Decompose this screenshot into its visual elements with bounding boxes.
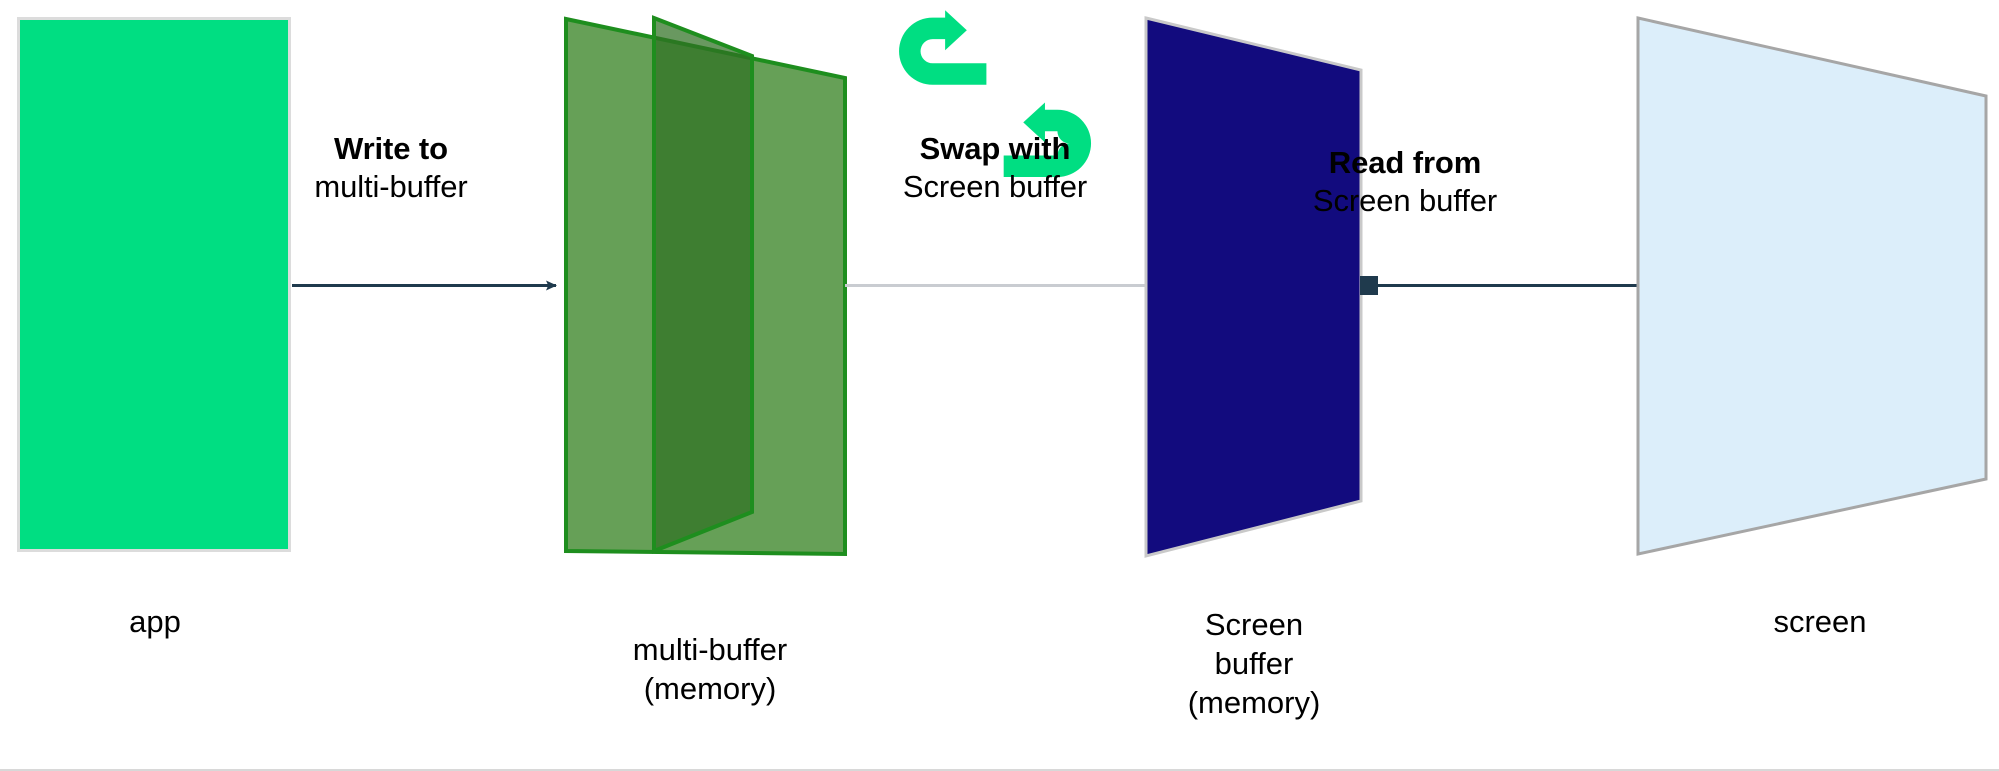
node-label-app: app [35, 602, 275, 641]
edge-read-from-subtitle: Screen buffer [1262, 182, 1548, 220]
edge-label-swap-with: Swap with Screen buffer [852, 130, 1138, 206]
node-screen-shape[interactable] [1638, 18, 1986, 554]
node-multi-buffer-front-shape[interactable] [654, 18, 752, 551]
node-app-shape[interactable] [19, 19, 290, 551]
edge-label-read-from: Read from Screen buffer [1262, 144, 1548, 220]
node-screen-buffer-shape[interactable] [1146, 18, 1361, 556]
diagram-canvas: Write to multi-buffer Swap with Screen b… [0, 0, 1999, 771]
node-label-screen: screen [1700, 602, 1940, 641]
edge-write-to-subtitle: multi-buffer [248, 168, 534, 206]
node-label-screen-buffer: Screen buffer (memory) [1128, 605, 1380, 722]
edge-label-write-to: Write to multi-buffer [248, 130, 534, 206]
diagram-shapes-layer [0, 0, 1999, 771]
node-label-multi-buffer: multi-buffer (memory) [575, 630, 845, 708]
edge-swap-with-title: Swap with [852, 130, 1138, 168]
edge-read-from-title: Read from [1262, 144, 1548, 182]
edge-swap-with-subtitle: Screen buffer [852, 168, 1138, 206]
edge-write-to-title: Write to [248, 130, 534, 168]
